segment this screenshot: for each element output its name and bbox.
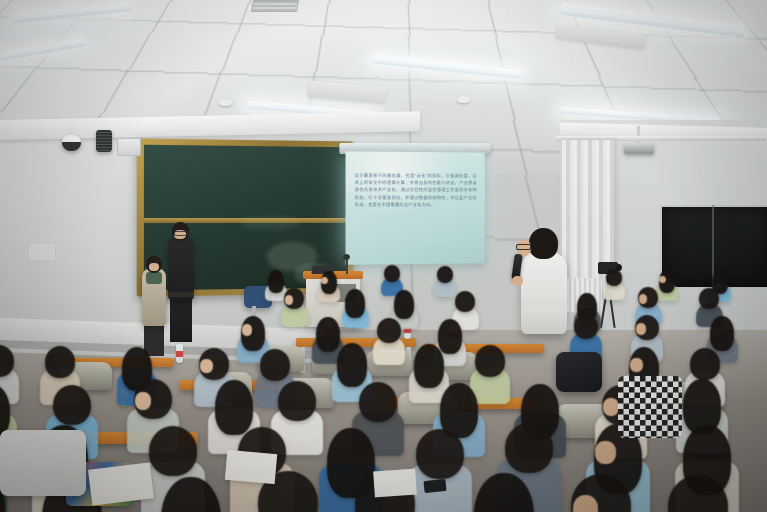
audience-member-head	[710, 316, 734, 351]
smoke-detector	[219, 99, 232, 106]
patterned-dress	[618, 376, 682, 438]
audience-member-head	[414, 344, 444, 388]
audience-member-head	[384, 265, 400, 282]
audience-member-head	[475, 345, 505, 377]
audience-member-head	[268, 270, 284, 293]
audience-member-head	[278, 381, 316, 421]
audience-member-head	[394, 290, 414, 319]
audience-member-head	[45, 346, 75, 378]
audience-member-face	[242, 324, 252, 335]
audience-member-head	[690, 348, 720, 380]
audience-member-head	[359, 382, 397, 422]
audience-member-face	[603, 398, 619, 416]
ceiling-projector	[624, 143, 654, 154]
audience-member-face	[135, 392, 151, 410]
audience-member-head	[337, 343, 367, 387]
ceiling-vent	[251, 0, 299, 12]
audience-member-face	[595, 441, 615, 464]
audience-member-head	[416, 429, 464, 479]
paper	[88, 462, 154, 505]
dome-camera-icon	[62, 135, 81, 151]
paper	[225, 450, 277, 484]
audience-member-head	[215, 380, 253, 435]
audience-member-head	[606, 269, 622, 286]
audience-member-face	[285, 295, 294, 305]
audience-member-head	[574, 314, 598, 339]
handbag	[556, 352, 602, 392]
audience-member-face	[639, 294, 648, 304]
glasses-icon	[174, 231, 188, 236]
audience-member-head	[345, 289, 365, 318]
wall-equipment-box	[117, 138, 141, 156]
lecture-hall-photo: 云计算是新兴的服务器，也是“云化”的资料，它强调的是，在其上的安全中的逻辑计算，…	[0, 0, 767, 512]
bag	[0, 430, 86, 496]
audience-member-head	[455, 291, 475, 312]
audience-member-head	[505, 423, 553, 473]
audience-member-head	[377, 318, 401, 343]
audience-member-face	[636, 323, 646, 334]
audience-member-head	[53, 385, 91, 425]
audience-member-face	[630, 358, 643, 372]
smartphone[interactable]	[423, 479, 446, 493]
projector-pole	[637, 126, 640, 144]
paper	[373, 469, 417, 498]
audience-member-head	[260, 349, 290, 381]
slide-text: 云计算是新兴的服务器，也是“云化”的资料，它强调的是，在其上的安全中的逻辑计算，…	[355, 172, 477, 208]
audience-member-face	[573, 495, 599, 512]
projection-screen: 云计算是新兴的服务器，也是“云化”的资料，它强调的是，在其上的安全中的逻辑计算，…	[346, 151, 485, 264]
audience-member-face	[200, 359, 213, 373]
smoke-detector	[457, 96, 470, 103]
audience-member-head	[437, 266, 453, 283]
speaker-icon	[96, 130, 112, 152]
audience-member-head	[149, 426, 197, 476]
audience-member-head	[438, 319, 462, 354]
audience-member-head	[316, 317, 340, 352]
audience-member-head	[699, 288, 719, 309]
